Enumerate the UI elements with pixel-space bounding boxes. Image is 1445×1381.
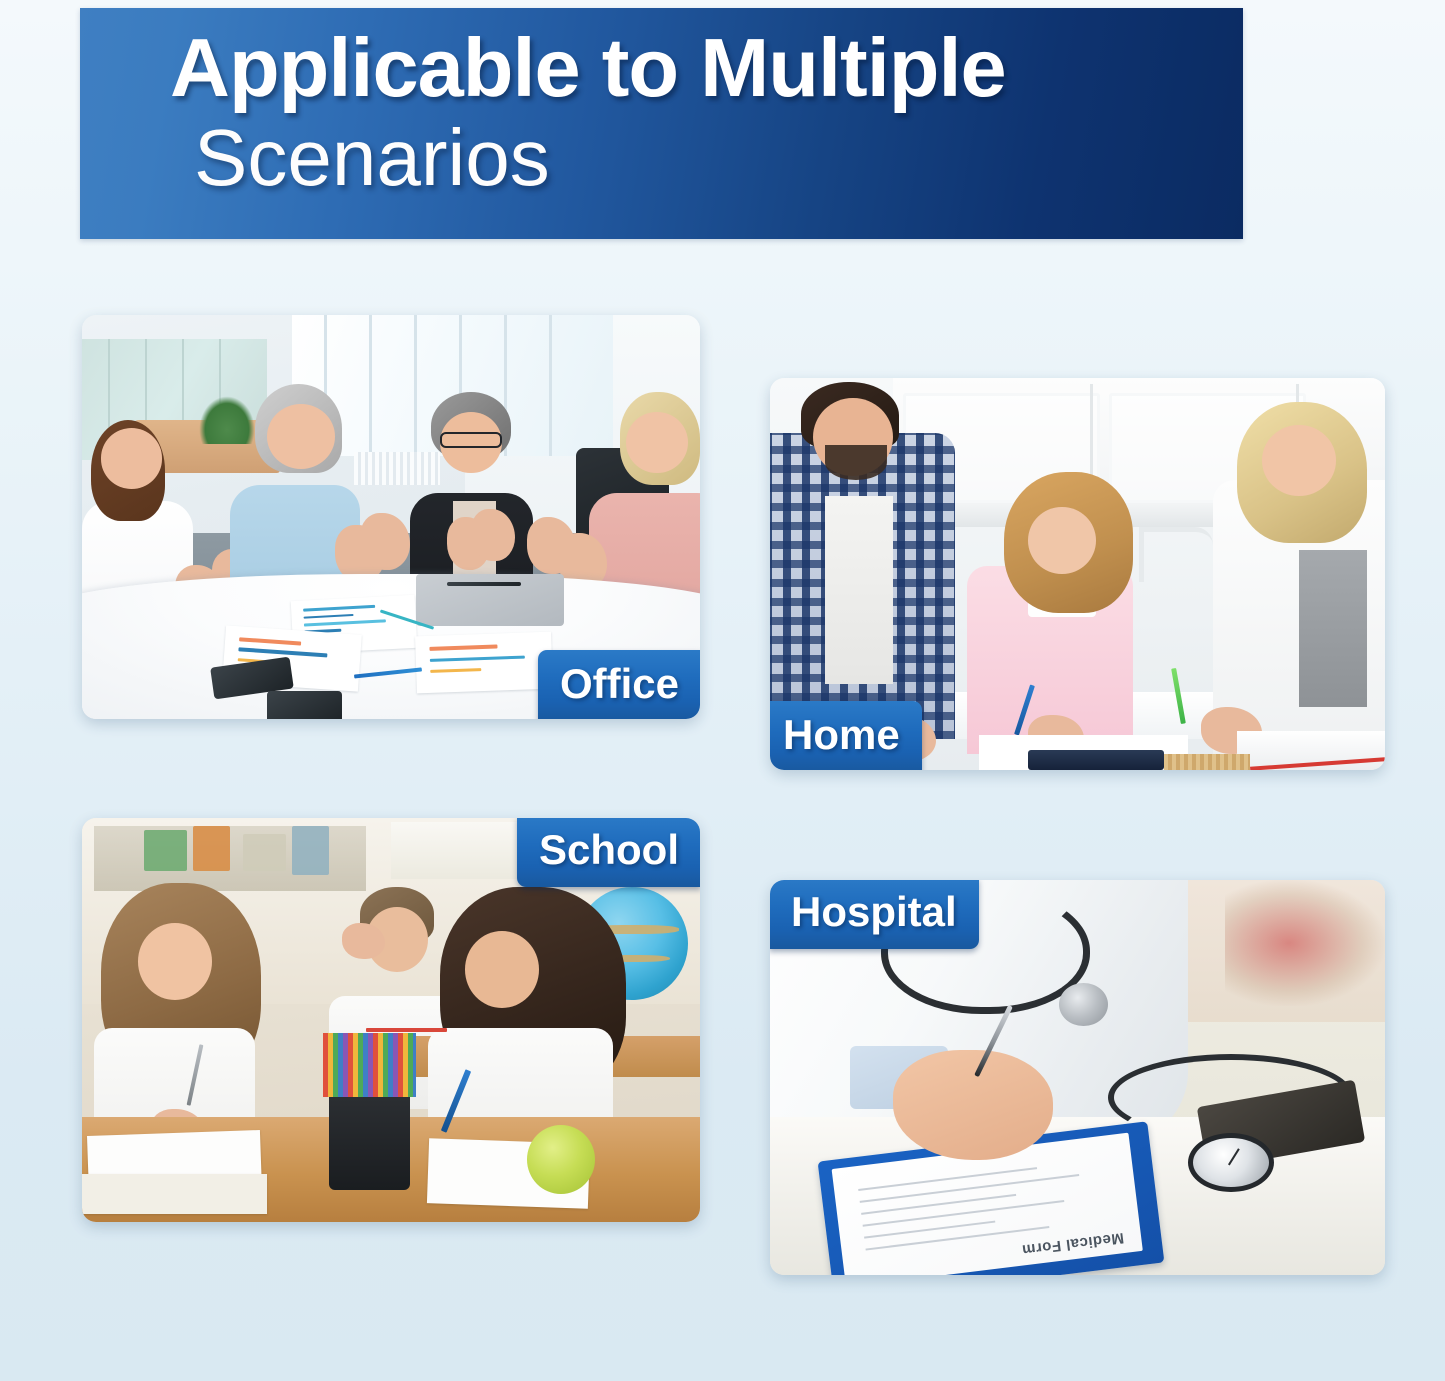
office-chart-document-3 [415, 632, 553, 693]
scenario-label-school: School [539, 826, 679, 873]
school-book-left [82, 1174, 267, 1214]
hospital-doctor-hand [893, 1050, 1053, 1161]
school-apple [527, 1125, 595, 1194]
scenario-label-office: Office [560, 660, 679, 707]
scenario-badge-home: Home [770, 701, 922, 770]
school-pencil-red-back [366, 1028, 446, 1032]
page-title-line-2: Scenarios [194, 115, 1243, 201]
school-pencil-cup [329, 1093, 409, 1190]
home-pencil-case [1028, 750, 1163, 770]
office-smartphone-2 [267, 691, 341, 719]
home-pencil-bundle [1164, 754, 1250, 770]
header-banner: Applicable to Multiple Scenarios [80, 8, 1243, 239]
office-pen-on-laptop [447, 582, 521, 586]
scenario-label-hospital: Hospital [791, 888, 957, 935]
scenario-badge-hospital: Hospital [770, 880, 979, 949]
hospital-flower-arrangement [1225, 880, 1385, 1006]
scenario-card-hospital: Medical Form Hospital [770, 880, 1385, 1275]
stethoscope-chestpiece [1059, 983, 1108, 1026]
hospital-blood-pressure-gauge [1188, 1133, 1274, 1192]
scenario-card-school: School [82, 818, 700, 1222]
header-text-block: Applicable to Multiple Scenarios [80, 8, 1243, 239]
scenario-card-office: Office [82, 315, 700, 719]
scenario-badge-office: Office [538, 650, 700, 719]
scenario-badge-school: School [517, 818, 700, 887]
scenario-label-home: Home [783, 711, 900, 758]
scenario-card-home: Home [770, 378, 1385, 770]
page-title-line-1: Applicable to Multiple [170, 26, 1243, 111]
hospital-form-title: Medical Form [1021, 1229, 1125, 1258]
